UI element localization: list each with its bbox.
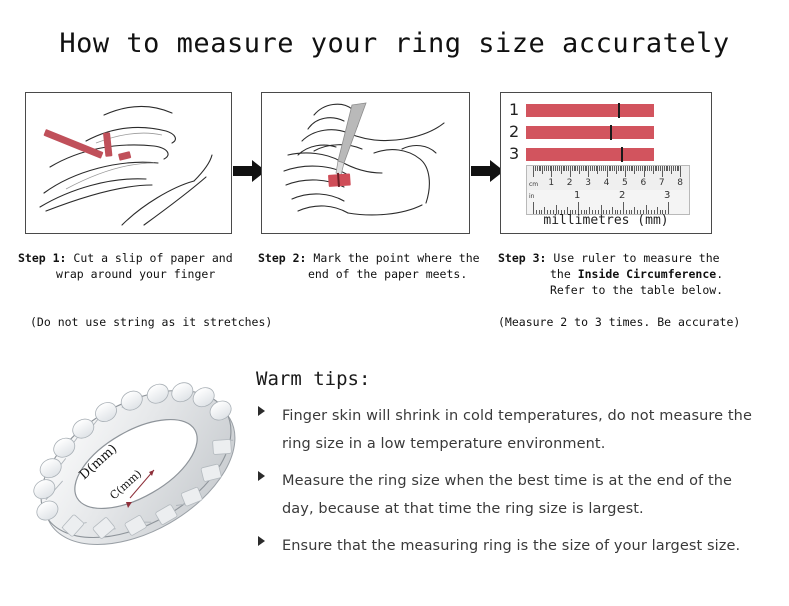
ruler-cm-tick: [561, 166, 562, 174]
step-3-caption: Step 3: Use ruler to measure the the Ins…: [498, 250, 738, 298]
ruler-cm-tick: [629, 166, 630, 171]
step-2-label: Step 2:: [258, 251, 306, 265]
step-1-note: (Do not use string as it stretches): [30, 315, 272, 329]
ruler-cm-tick: [548, 166, 549, 171]
ruler-cm-tick: [620, 166, 621, 171]
ruler-cm-tick: [634, 166, 635, 174]
ruler-cm-tick: [557, 166, 558, 171]
ruler-cm-tick: [642, 166, 643, 171]
ruler-cm-tick: [551, 166, 552, 177]
step-2-line1: Mark the point where the: [306, 251, 479, 265]
ruler-inch-number: 3: [664, 191, 670, 200]
step-1-illustration-panel: [25, 92, 232, 234]
ruler-inch-unit: in: [529, 192, 534, 201]
ruler-cm-number: 5: [622, 179, 628, 188]
step-3-line2-post: .: [716, 267, 723, 281]
step-3-line2: the Inside Circumference.: [498, 266, 738, 282]
ruler-cm-tick: [678, 166, 679, 171]
ruler-cm-tick: [625, 166, 626, 177]
step-3-line2-pre: the: [550, 267, 578, 281]
ruler-cm-number: 6: [641, 179, 647, 188]
ruler-cm-number: 7: [659, 179, 665, 188]
triangle-bullet-icon: [258, 406, 265, 416]
ruler-cm-tick: [660, 166, 661, 171]
ruler-cm-tick: [566, 166, 567, 171]
ruler-inch-number: 2: [619, 191, 625, 200]
strip-mark-1: [618, 103, 620, 118]
strip-number-3: 3: [509, 146, 526, 162]
ruler-cm-tick: [594, 166, 595, 171]
strip-number-1: 1: [509, 102, 526, 118]
step-1-line2: wrap around your finger: [18, 266, 250, 282]
step-3-note: (Measure 2 to 3 times. Be accurate): [498, 315, 740, 329]
warm-tip-item: Measure the ring size when the best time…: [256, 467, 756, 523]
ruler-cm-tick: [647, 166, 648, 171]
ruler-cm-unit: cm: [529, 180, 538, 189]
ruler-cm-tick: [666, 166, 667, 171]
ruler-cm-scale: 12345678cm: [527, 166, 689, 191]
ruler-cm-tick: [535, 166, 536, 171]
ruler: 12345678cm 123in: [526, 165, 690, 215]
ruler-inch-number: 1: [574, 191, 580, 200]
ruler-inch-scale: 123in: [527, 190, 689, 214]
step-2-line2: end of the paper meets.: [258, 266, 490, 282]
ruler-cm-number: 4: [604, 179, 610, 188]
step-3-line1: Use ruler to measure the: [546, 251, 719, 265]
ruler-cm-tick: [539, 166, 540, 171]
ruler-cm-tick: [638, 166, 639, 171]
warm-tip-text: Ensure that the measuring ring is the si…: [282, 532, 756, 560]
hand-with-paper-strip-icon: [26, 93, 231, 233]
ruler-cm-tick: [585, 166, 586, 171]
warm-tips-list: Finger skin will shrink in cold temperat…: [256, 402, 756, 569]
ruler-cm-number: 1: [548, 179, 554, 188]
ruler-cm-tick: [579, 166, 580, 174]
strip-number-2: 2: [509, 124, 526, 140]
step-1-line1: Cut a slip of paper and: [66, 251, 232, 265]
paper-strip-1: [526, 104, 654, 117]
measured-strip-row-1: 1: [509, 102, 654, 118]
ruler-cm-tick: [675, 166, 676, 171]
paper-strip-2: [526, 126, 654, 139]
measured-strip-row-2: 2: [509, 124, 654, 140]
warm-tip-text: Finger skin will shrink in cold temperat…: [282, 402, 756, 458]
ring-illustration-icon: D(mm) C(mm): [22, 352, 250, 577]
step-1-label: Step 1:: [18, 251, 66, 265]
triangle-bullet-icon: [258, 536, 265, 546]
inside-circumference-emphasis: Inside Circumference: [578, 267, 716, 281]
hand-marking-with-pen-icon: [262, 93, 469, 233]
measured-strip-row-3: 3: [509, 146, 654, 162]
ruler-cm-tick: [669, 166, 670, 171]
step-2-illustration-panel: [261, 92, 470, 234]
ruler-cm-tick: [570, 166, 571, 177]
step-3-line3: Refer to the table below.: [498, 282, 738, 298]
ruler-cm-number: 2: [567, 179, 573, 188]
strip-mark-2: [610, 125, 612, 140]
step-3-label: Step 3:: [498, 251, 546, 265]
ruler-cm-number: 3: [585, 179, 591, 188]
triangle-bullet-icon: [258, 471, 265, 481]
ruler-cm-tick: [680, 166, 681, 177]
warm-tips-heading: Warm tips:: [256, 368, 370, 390]
ruler-cm-tick: [601, 166, 602, 171]
step-3-illustration-panel: 1 2 3 12345678cm 123in millimetres (mm): [500, 92, 712, 234]
ruler-cm-tick: [588, 166, 589, 177]
warm-tip-item: Finger skin will shrink in cold temperat…: [256, 402, 756, 458]
ruler-cm-tick: [616, 166, 617, 174]
strip-mark-3: [621, 147, 623, 162]
ruler-cm-tick: [607, 166, 608, 177]
warm-tip-text: Measure the ring size when the best time…: [282, 467, 756, 523]
ruler-cm-tick: [651, 166, 652, 171]
ruler-cm-number: 8: [677, 179, 683, 188]
ring-size-guide-page: How to measure your ring size accurately: [0, 0, 789, 606]
ruler-unit-label: millimetres (mm): [501, 213, 711, 228]
step-1-caption: Step 1: Cut a slip of paper and wrap aro…: [18, 250, 250, 282]
warm-tip-item: Ensure that the measuring ring is the si…: [256, 532, 756, 560]
paper-strip-3: [526, 148, 654, 161]
ruler-cm-tick: [656, 166, 657, 171]
ring-diagram: D(mm) C(mm): [22, 352, 250, 577]
ruler-cm-tick: [575, 166, 576, 171]
page-title: How to measure your ring size accurately: [0, 28, 789, 59]
ruler-cm-tick: [597, 166, 598, 174]
ruler-cm-tick: [610, 166, 611, 171]
step-2-caption: Step 2: Mark the point where the end of …: [258, 250, 490, 282]
ruler-cm-tick: [544, 166, 545, 171]
